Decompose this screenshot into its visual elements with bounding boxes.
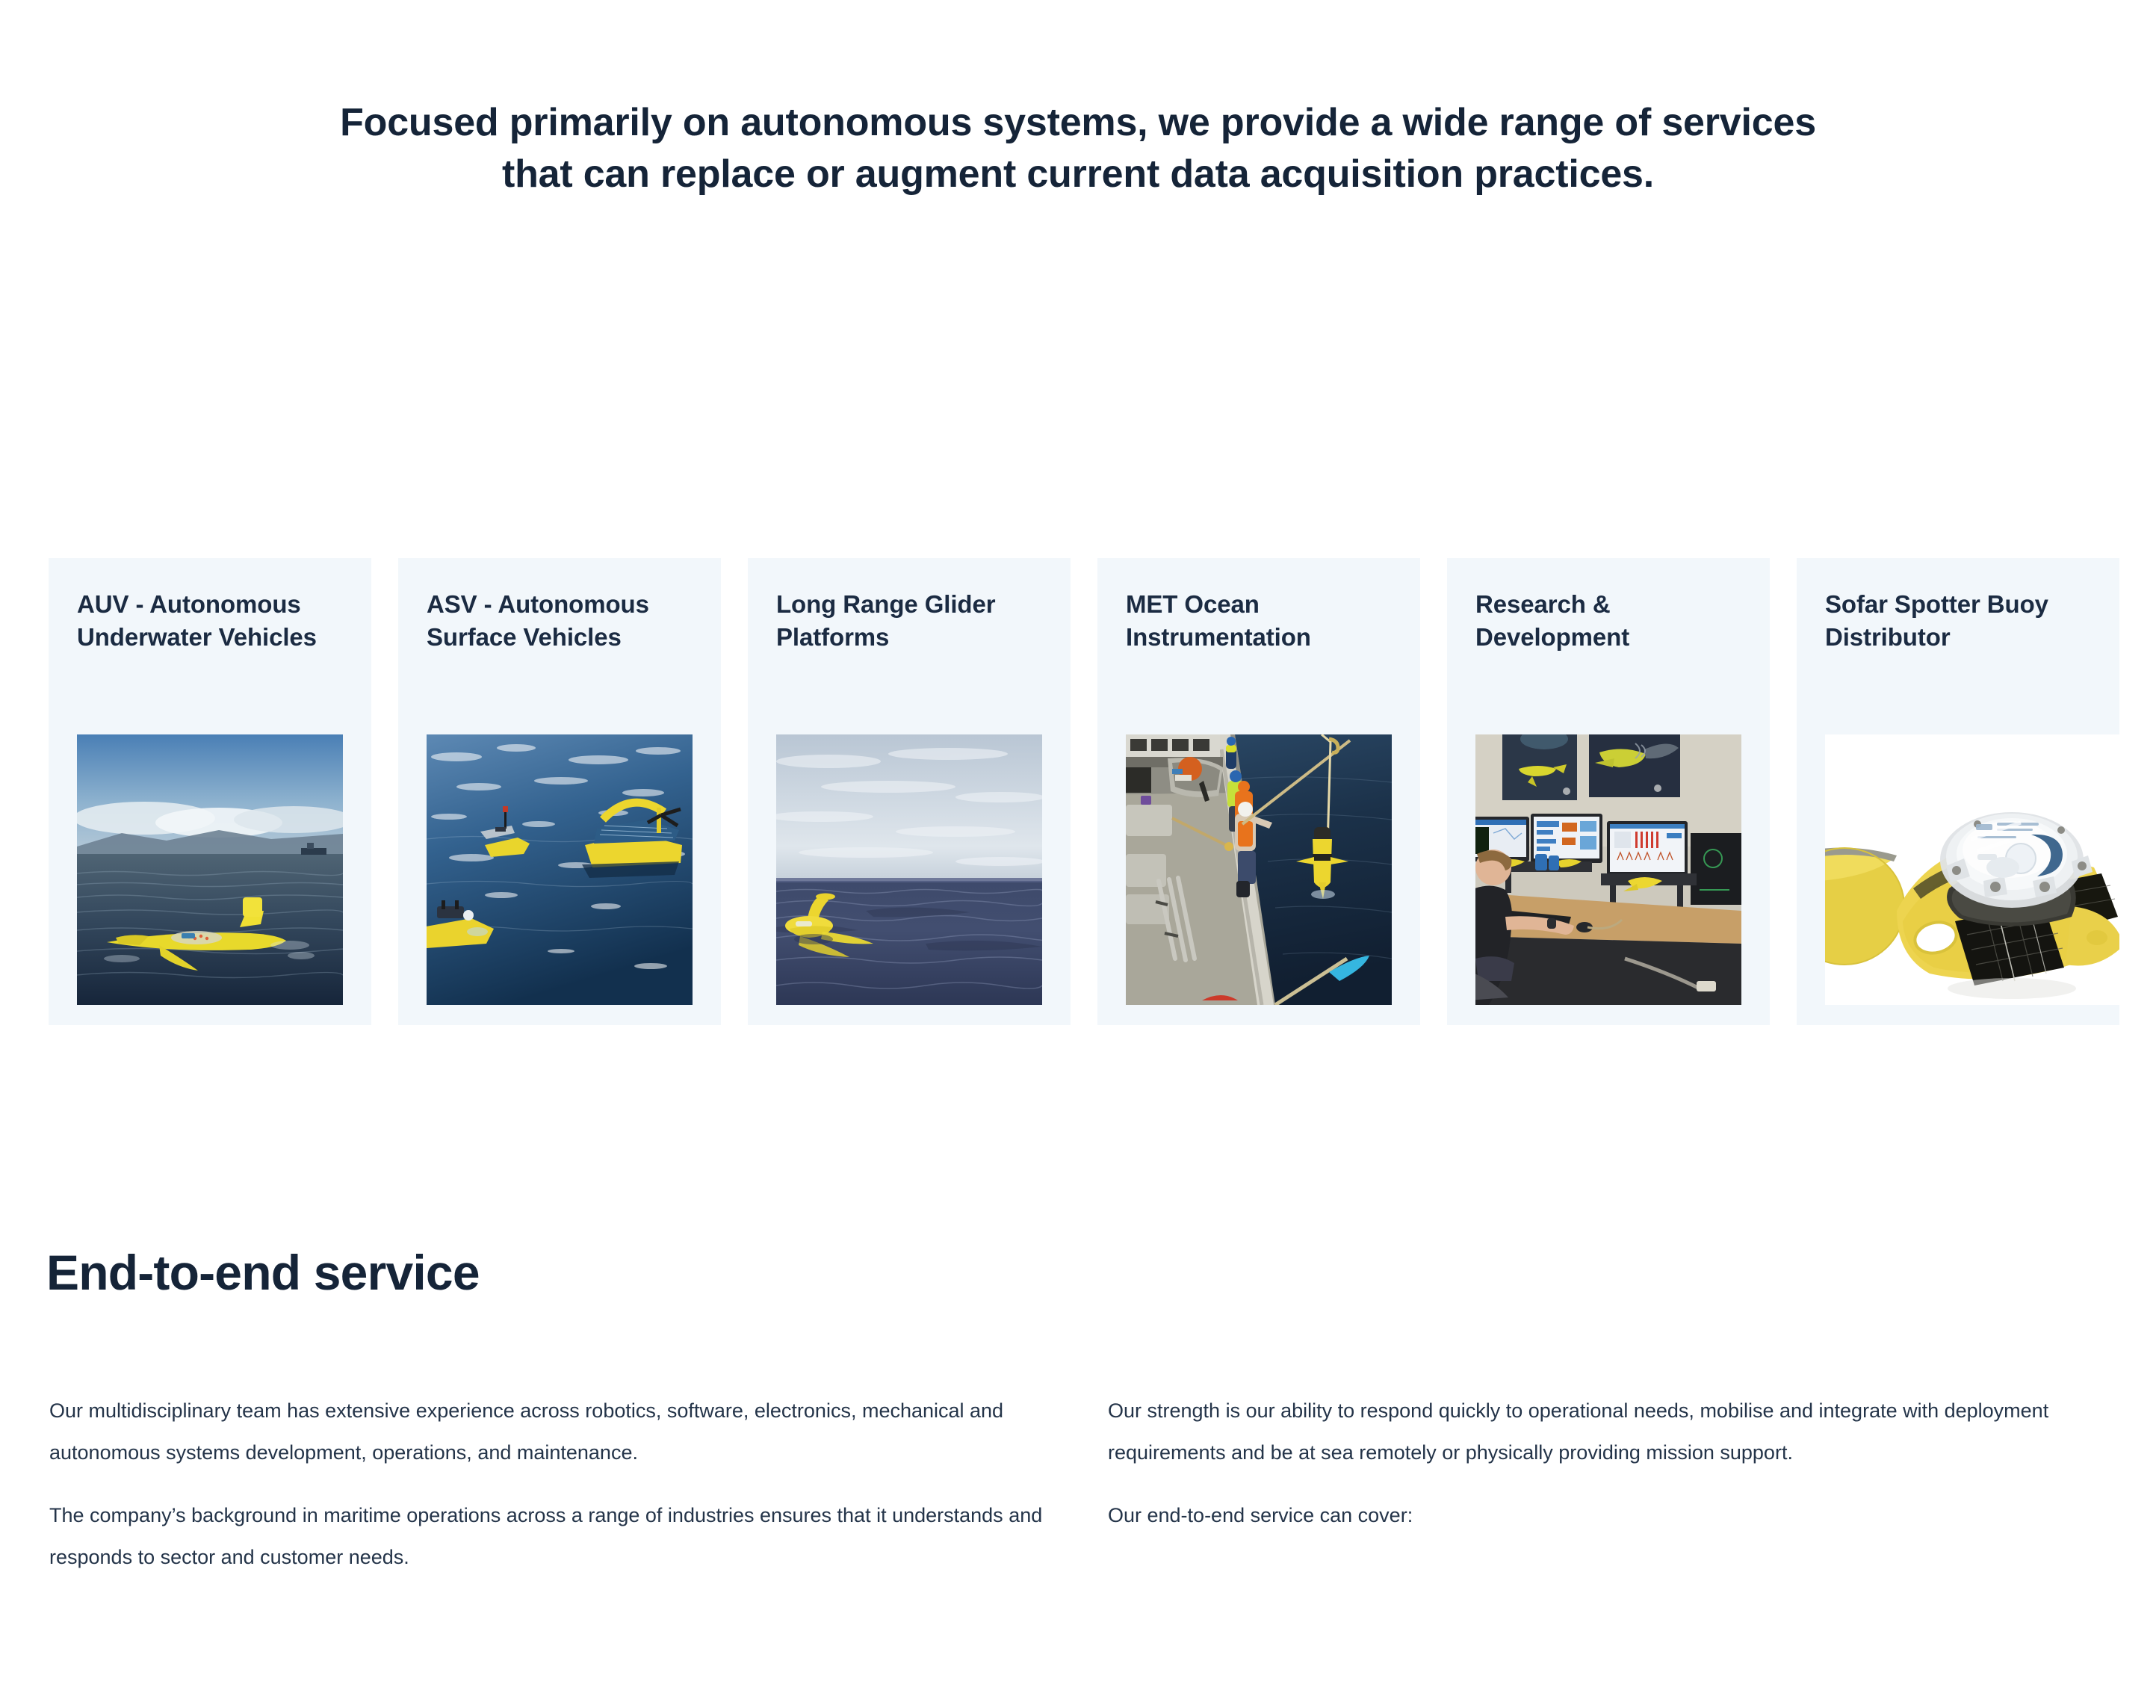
auv-ocean-photo <box>77 734 343 1005</box>
spotter-buoy-photo <box>1825 734 2119 1005</box>
service-card-asv[interactable]: ASV - Autonomous Surface Vehicles <box>398 558 721 1025</box>
service-card-title: MET Ocean Instrumentation <box>1126 588 1392 654</box>
asv-ocean-photo <box>427 734 693 1005</box>
body-paragraph: The company’s background in maritime ope… <box>49 1494 1088 1578</box>
body-paragraph: Our strength is our ability to respond q… <box>1108 1390 2131 1473</box>
service-cards-row: AUV - Autonomous Underwater Vehicles <box>49 558 2156 1025</box>
service-card-met-ocean[interactable]: MET Ocean Instrumentation <box>1097 558 1420 1025</box>
deck-deployment-photo <box>1126 734 1392 1005</box>
section-heading-end-to-end-service: End-to-end service <box>46 1244 480 1301</box>
service-card-sofar-spotter-buoy[interactable]: Sofar Spotter Buoy Distributor <box>1797 558 2119 1025</box>
body-paragraph: Our end-to-end service can cover: <box>1108 1494 2131 1536</box>
services-page: Focused primarily on autonomous systems,… <box>0 0 2156 1708</box>
service-card-research-development[interactable]: Research & Development <box>1447 558 1770 1025</box>
service-card-title: Research & Development <box>1475 588 1741 654</box>
body-paragraph: Our multidisciplinary team has extensive… <box>49 1390 1088 1473</box>
end-to-end-right-column: Our strength is our ability to respond q… <box>1108 1390 2131 1536</box>
service-card-auv[interactable]: AUV - Autonomous Underwater Vehicles <box>49 558 371 1025</box>
service-card-glider[interactable]: Long Range Glider Platforms <box>748 558 1071 1025</box>
end-to-end-left-column: Our multidisciplinary team has extensive… <box>49 1390 1088 1579</box>
service-card-title: AUV - Autonomous Underwater Vehicles <box>77 588 343 654</box>
page-headline: Focused primarily on autonomous systems,… <box>331 97 1825 200</box>
service-card-title: ASV - Autonomous Surface Vehicles <box>427 588 693 654</box>
service-card-title: Long Range Glider Platforms <box>776 588 1042 654</box>
service-card-title: Sofar Spotter Buoy Distributor <box>1825 588 2091 654</box>
glider-ocean-photo <box>776 734 1042 1005</box>
office-workstation-photo <box>1475 734 1741 1005</box>
